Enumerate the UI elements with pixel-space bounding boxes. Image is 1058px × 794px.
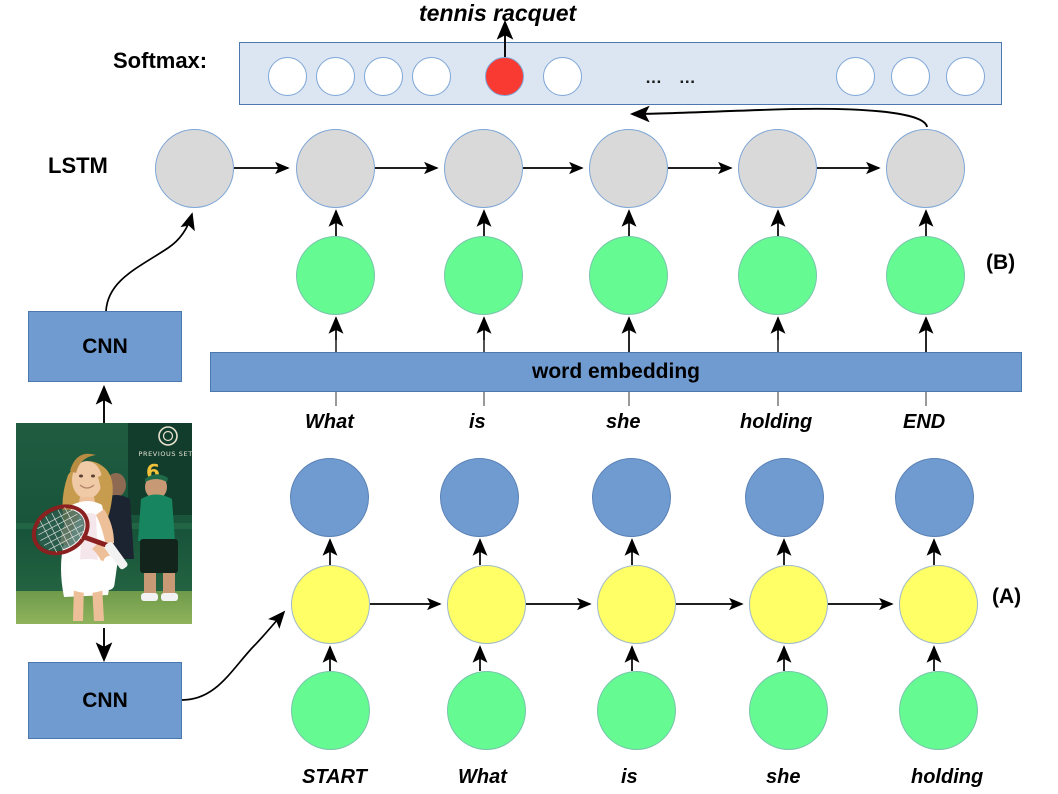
decoder-embedding-1[interactable]: [444, 236, 523, 315]
encoder-input-word-1: What: [458, 766, 507, 789]
decoder-lstm-cell-4[interactable]: [738, 129, 817, 208]
branch-b-label: (B): [986, 251, 1015, 275]
word-embedding-bar[interactable]: word embedding: [210, 352, 1022, 392]
decoder-embedding-0[interactable]: [296, 236, 375, 315]
arrow-cnn-top-to-lstm: [106, 214, 192, 311]
encoder-input-word-4: holding: [911, 766, 983, 789]
softmax-unit-2[interactable]: [316, 57, 355, 96]
encoder-output-4[interactable]: [895, 458, 974, 537]
encoder-embedding-4[interactable]: [899, 671, 978, 750]
encoder-output-0[interactable]: [290, 458, 369, 537]
softmax-unit-3[interactable]: [364, 57, 403, 96]
softmax-unit-n-1[interactable]: [891, 57, 930, 96]
diagram-canvas: tennis racquet Softmax: … … LSTM (B) CNN…: [0, 0, 1058, 794]
cnn-top-box[interactable]: CNN: [28, 311, 182, 382]
decoder-lstm-cell-1[interactable]: [296, 129, 375, 208]
encoder-lstm-cell-1[interactable]: [447, 565, 526, 644]
encoder-embedding-0[interactable]: [291, 671, 370, 750]
decoder-lstm-cell-0[interactable]: [155, 129, 234, 208]
decoder-embedding-4[interactable]: [886, 236, 965, 315]
decoder-lstm-cell-3[interactable]: [589, 129, 668, 208]
decoder-input-word-1: is: [469, 411, 486, 434]
encoder-lstm-cell-3[interactable]: [749, 565, 828, 644]
decoder-embedding-2[interactable]: [589, 236, 668, 315]
predicted-word-label: tennis racquet: [419, 0, 576, 27]
encoder-lstm-cell-2[interactable]: [597, 565, 676, 644]
softmax-unit-6[interactable]: [543, 57, 582, 96]
arrow-lstm-to-softmax: [632, 109, 927, 127]
decoder-embedding-3[interactable]: [738, 236, 817, 315]
encoder-output-1[interactable]: [440, 458, 519, 537]
softmax-ellipsis: … …: [645, 68, 702, 88]
decoder-input-word-2: she: [606, 411, 640, 434]
softmax-unit-n[interactable]: [946, 57, 985, 96]
encoder-input-word-0: START: [302, 766, 367, 789]
encoder-output-3[interactable]: [745, 458, 824, 537]
encoder-lstm-cell-0[interactable]: [291, 565, 370, 644]
lstm-row-label: LSTM: [48, 153, 108, 179]
decoder-lstm-cell-5[interactable]: [886, 129, 965, 208]
encoder-output-2[interactable]: [592, 458, 671, 537]
softmax-unit-n-2[interactable]: [836, 57, 875, 96]
softmax-label: Softmax:: [113, 48, 207, 74]
decoder-input-word-4: END: [903, 411, 945, 434]
encoder-input-word-2: is: [621, 766, 638, 789]
cnn-bottom-box[interactable]: CNN: [28, 662, 182, 739]
softmax-unit-4[interactable]: [412, 57, 451, 96]
encoder-embedding-3[interactable]: [749, 671, 828, 750]
decoder-input-word-3: holding: [740, 411, 812, 434]
encoder-embedding-2[interactable]: [597, 671, 676, 750]
decoder-input-word-0: What: [305, 411, 354, 434]
encoder-input-word-3: she: [766, 766, 800, 789]
arrow-cnn-bottom-to-lstm: [182, 612, 284, 700]
softmax-unit-5-selected[interactable]: [485, 57, 524, 96]
svg-text:PREVIOUS SETS: PREVIOUS SETS: [138, 450, 192, 458]
encoder-lstm-cell-4[interactable]: [899, 565, 978, 644]
softmax-unit-1[interactable]: [268, 57, 307, 96]
branch-a-label: (A): [992, 585, 1021, 609]
encoder-embedding-1[interactable]: [447, 671, 526, 750]
input-image-photo: PREVIOUS SETS 6 2: [16, 423, 192, 624]
decoder-lstm-cell-2[interactable]: [444, 129, 523, 208]
